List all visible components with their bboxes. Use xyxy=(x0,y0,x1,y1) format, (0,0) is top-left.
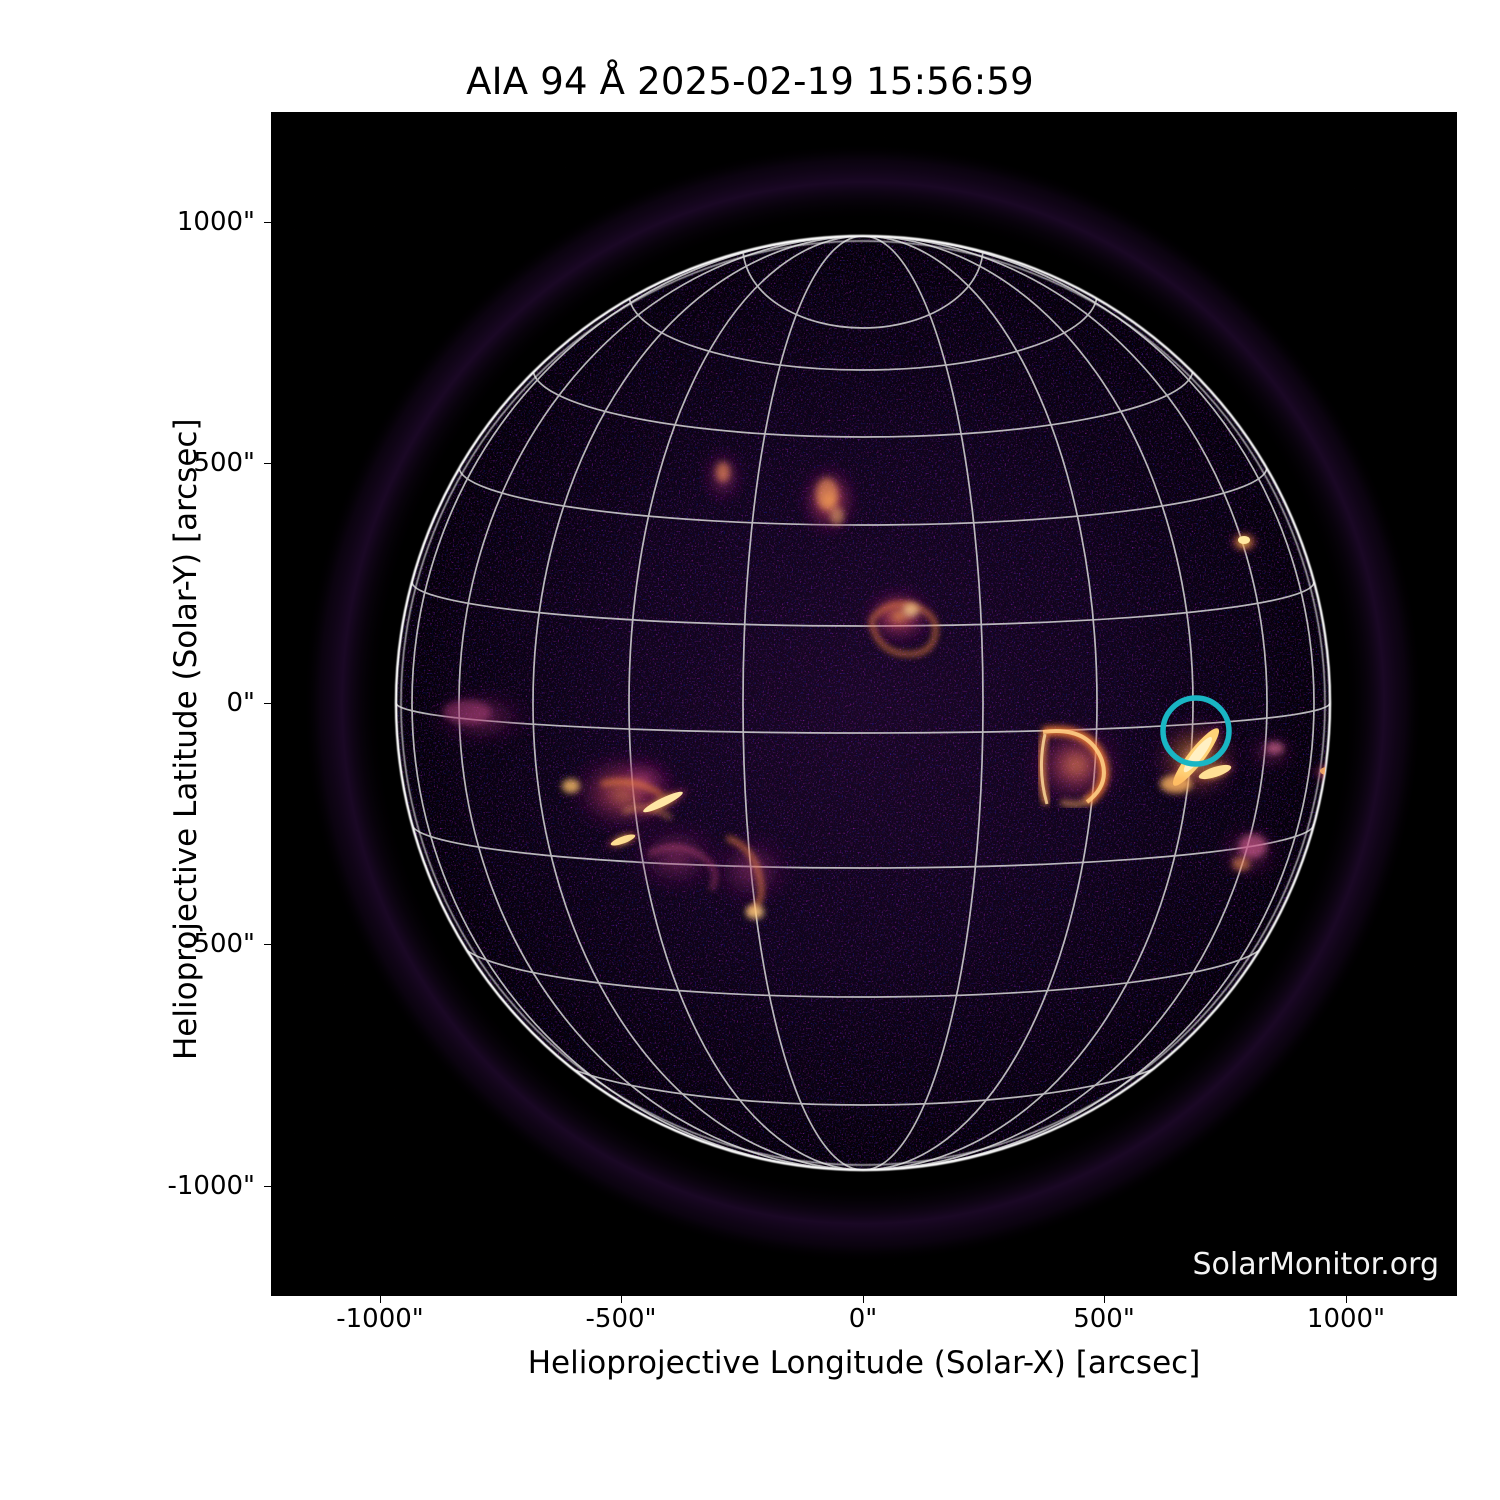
ytick-mark-3 xyxy=(264,944,271,945)
ytick-mark-2 xyxy=(264,703,271,704)
xtick-label-2: 0" xyxy=(849,1304,878,1334)
x-axis-label: Helioprojective Longitude (Solar-X) [arc… xyxy=(271,1345,1457,1381)
ytick-mark-4 xyxy=(264,1186,271,1187)
ytick-label-4: -1000" xyxy=(167,1171,255,1201)
bright-point-northwest xyxy=(1228,530,1260,554)
ytick-label-0: 1000" xyxy=(177,207,255,237)
active-region-east-limb-plage xyxy=(425,687,537,747)
y-axis-label: Helioprojective Latitude (Solar-Y) [arcs… xyxy=(168,418,204,1060)
xtick-mark-2 xyxy=(863,1296,864,1303)
watermark-text: SolarMonitor.org xyxy=(1193,1247,1439,1282)
xtick-label-4: 1000" xyxy=(1307,1304,1385,1334)
active-region-west-loops xyxy=(1024,719,1128,811)
ytick-mark-1 xyxy=(264,463,271,464)
ytick-label-2: 0" xyxy=(226,688,255,718)
xtick-label-3: 500" xyxy=(1073,1304,1135,1334)
figure-root: AIA 94 Å 2025-02-19 15:56:59 xyxy=(0,0,1500,1500)
xtick-mark-1 xyxy=(621,1296,622,1303)
solar-disk-plot: SolarMonitor.org xyxy=(271,112,1457,1296)
ytick-mark-0 xyxy=(264,222,271,223)
active-region-southwest xyxy=(1215,822,1283,882)
active-region-west-plage xyxy=(1245,734,1297,770)
active-region-northeast-small xyxy=(697,442,749,510)
xtick-label-1: -500" xyxy=(586,1304,657,1334)
figure-title: AIA 94 Å 2025-02-19 15:56:59 xyxy=(0,60,1500,103)
xtick-mark-0 xyxy=(380,1296,381,1303)
xtick-label-0: -1000" xyxy=(336,1304,424,1334)
active-region-north-center xyxy=(795,458,863,542)
xtick-mark-3 xyxy=(1104,1296,1105,1303)
xtick-mark-4 xyxy=(1346,1296,1347,1303)
solar-image-panel[interactable]: SolarMonitor.org xyxy=(271,112,1457,1296)
